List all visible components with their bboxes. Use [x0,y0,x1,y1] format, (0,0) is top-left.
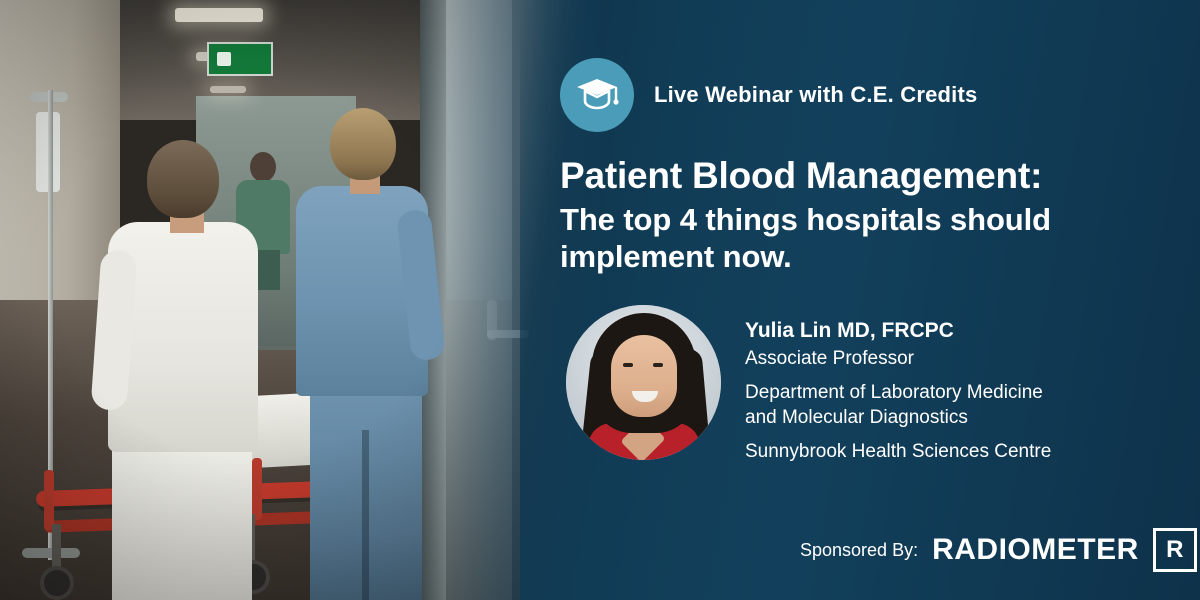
avatar [566,305,721,460]
speaker-block: Yulia Lin MD, FRCPC Associate Professor … [566,305,1051,464]
speaker-title: Associate Professor [745,346,1051,371]
speaker-department-line-2: and Molecular Diagnostics [745,405,1051,430]
sponsor-brand-name: RADIOMETER [932,533,1139,567]
webinar-promo-banner: Live Webinar with C.E. Credits Patient B… [0,0,1200,600]
spacer-2 [745,430,1051,439]
spacer [745,371,1051,380]
sponsor-block: Sponsored By: RADIOMETER R [800,528,1197,572]
avatar-face [611,335,677,417]
sponsor-label: Sponsored By: [800,540,918,561]
avatar-eye-left [623,363,633,367]
hospital-corridor-photo [0,0,600,600]
headline-line-2: The top 4 things hospitals should implem… [560,201,1185,275]
webinar-badge-label: Live Webinar with C.E. Credits [654,82,977,108]
avatar-eye-right [653,363,663,367]
speaker-department-line-1: Department of Laboratory Medicine [745,380,1051,405]
webinar-badge: Live Webinar with C.E. Credits [560,58,977,132]
headline: Patient Blood Management: The top 4 thin… [560,155,1185,276]
speaker-organization: Sunnybrook Health Sciences Centre [745,439,1051,464]
graduation-cap-icon [560,58,634,132]
radiometer-logo-icon: R [1153,528,1197,572]
headline-line-1: Patient Blood Management: [560,155,1185,197]
speaker-details: Yulia Lin MD, FRCPC Associate Professor … [745,305,1051,464]
speaker-name: Yulia Lin MD, FRCPC [745,319,1051,343]
